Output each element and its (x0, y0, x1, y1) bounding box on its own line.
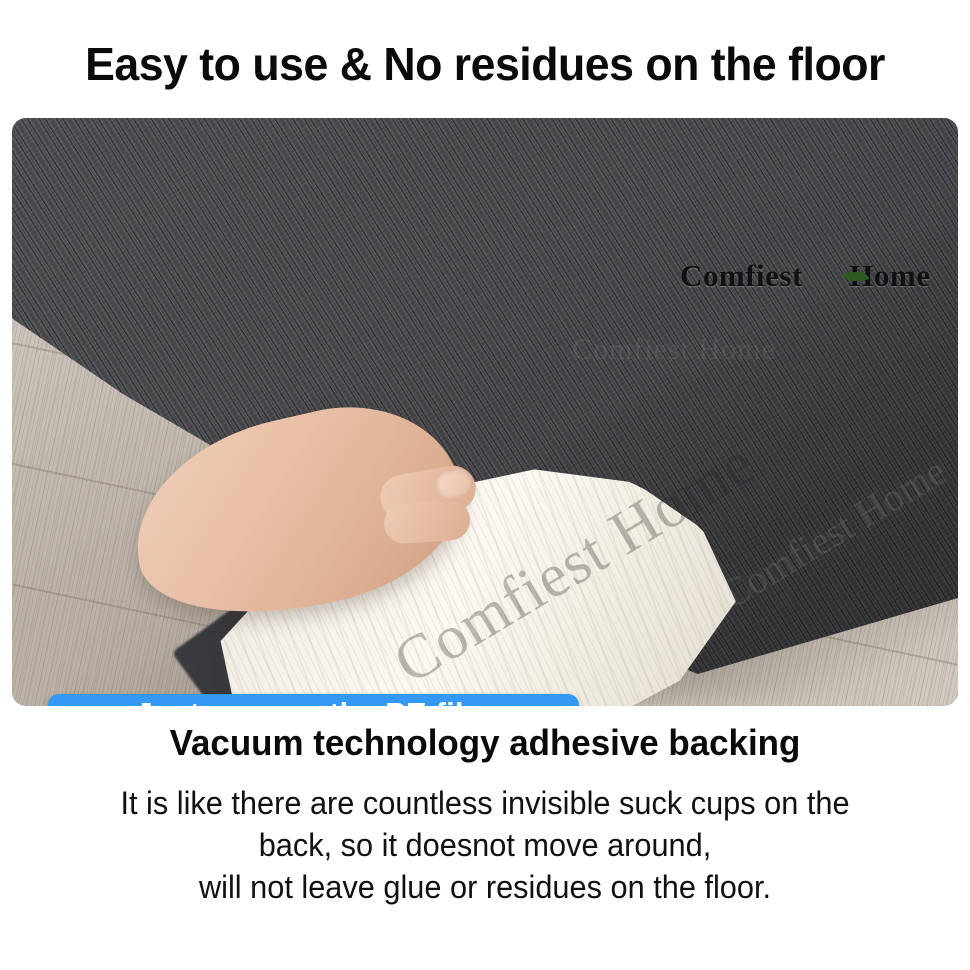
page-headline: Easy to use & No residues on the floor (15, 38, 956, 90)
brand-logo-part-one: Comfiest (680, 258, 803, 293)
finger-middle (383, 499, 472, 545)
pe-film-callout-banner: Just remove the PE film on the back (48, 694, 579, 706)
feature-subheading: Vacuum technology adhesive backing (15, 722, 956, 764)
pe-film-callout-text: Just remove the PE film on the back (135, 697, 491, 706)
product-feature-page: Easy to use & No residues on the floor C… (0, 0, 970, 970)
watermark-faint: Comfiest Home (572, 333, 776, 367)
feature-body-text: It is like there are countless invisible… (39, 782, 932, 908)
brand-logo-watermark: Comfiest Home (680, 258, 931, 294)
product-photo: Comfiest Home Comfiest Home Comfiest Hom… (12, 118, 958, 706)
